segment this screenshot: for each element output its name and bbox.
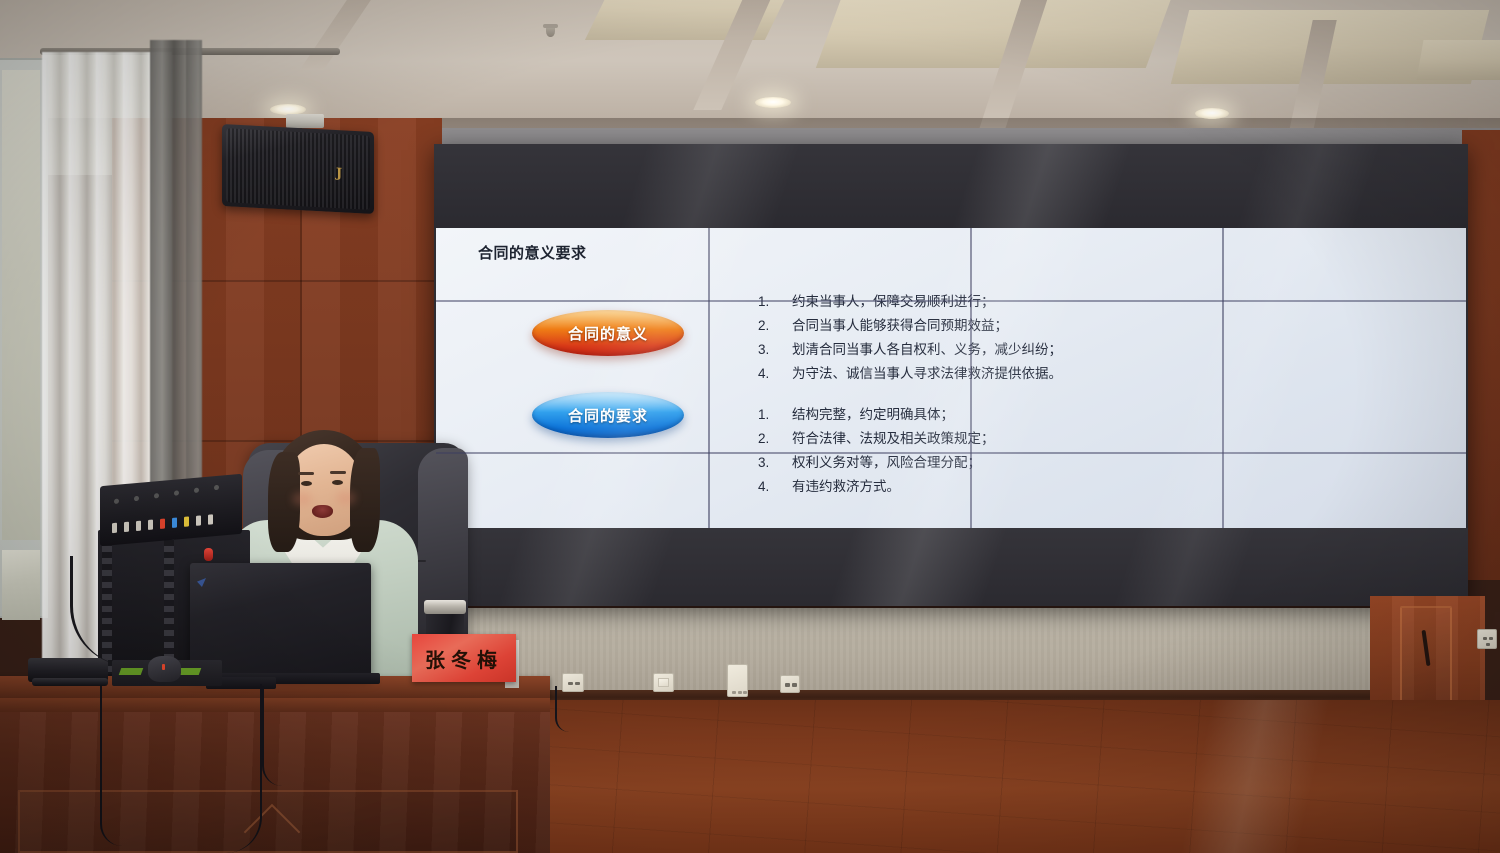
list-item: 2. 符合法律、法规及相关政策规定； — [758, 427, 995, 451]
switch-rocker[interactable] — [658, 678, 669, 687]
panel-led — [732, 691, 736, 694]
list-item-text: 合同当事人能够获得合同预期效益； — [792, 314, 1008, 338]
speaker-logo: J — [336, 166, 342, 181]
mixer-knob[interactable] — [194, 488, 199, 493]
videowall-bezel-v1 — [708, 228, 710, 528]
videowall-bezel-h1 — [436, 300, 1466, 302]
mixer-knob[interactable] — [114, 499, 119, 504]
thermos-lid — [424, 600, 466, 614]
video-wall: 合同的意义要求 合同的意义 合同的要求 1. 约束当事人，保障交易顺利进行； 2… — [434, 144, 1468, 606]
list-item-text: 为守法、诚信当事人寻求法律救济提供依据。 — [792, 362, 1062, 386]
list-item-number: 3. — [758, 451, 792, 475]
list-item: 1. 约束当事人，保障交易顺利进行； — [758, 290, 1062, 314]
sprinkler-head — [546, 24, 555, 37]
list-item: 4. 为守法、诚信当事人寻求法律救济提供依据。 — [758, 362, 1062, 386]
wall-speaker: J — [222, 124, 374, 214]
speaker-grille — [226, 128, 370, 210]
video-wall-bottom-band — [434, 528, 1468, 606]
mixer-fader[interactable] — [172, 517, 177, 527]
mixer-fader[interactable] — [184, 516, 189, 526]
presenter-cheek-shading — [336, 491, 356, 505]
nameplate: 张冬梅 — [412, 634, 516, 682]
ceiling-cove-far-right — [1416, 40, 1500, 80]
list-item-text: 有违约救济方式。 — [792, 475, 900, 499]
outlet-slot — [1489, 637, 1493, 640]
mixer-fader[interactable] — [208, 514, 213, 524]
list-item-text: 权利义务对等，风险合理分配； — [792, 451, 981, 475]
downlight-2 — [755, 97, 791, 108]
lecture-hall-photo: 合同的意义要求 合同的意义 合同的要求 1. 约束当事人，保障交易顺利进行； 2… — [0, 0, 1500, 853]
beige-wall — [432, 608, 1467, 694]
mixer-fader[interactable] — [196, 515, 201, 525]
mixer-knob[interactable] — [154, 493, 159, 498]
list-item-number: 4. — [758, 362, 792, 386]
wall-data-jack — [780, 675, 800, 693]
presenter-brow-left — [298, 472, 314, 475]
list-item-text: 划清合同当事人各自权利、义务，减少纠纷； — [792, 338, 1062, 362]
videowall-bezel-h2 — [436, 452, 1466, 454]
wall-light-switch[interactable] — [653, 673, 674, 692]
downlight-3 — [1195, 108, 1229, 119]
jack-port — [785, 683, 790, 687]
video-wall-top-band — [434, 144, 1468, 228]
list-item: 3. 划清合同当事人各自权利、义务，减少纠纷； — [758, 338, 1062, 362]
mixer-fader[interactable] — [124, 522, 129, 532]
outlet-slot — [568, 682, 573, 685]
outlet-slot — [1483, 637, 1487, 640]
list-item-text: 结构完整，约定明确具体； — [792, 403, 954, 427]
list-contract-requirement: 1. 结构完整，约定明确具体； 2. 符合法律、法规及相关政策规定； 3. 权利… — [758, 403, 995, 499]
mouse-led — [162, 664, 165, 670]
mixer-fader[interactable] — [160, 519, 165, 529]
presenter-mouth — [312, 505, 333, 518]
pill-contract-meaning: 合同的意义 — [532, 310, 684, 356]
mixer-fader[interactable] — [136, 521, 141, 531]
floor-cable — [555, 686, 569, 732]
power-cable — [100, 686, 122, 846]
mixer-knob[interactable] — [134, 496, 139, 501]
outlet-slot — [1486, 643, 1490, 646]
wall-outlet-right — [1477, 629, 1497, 649]
list-item: 1. 结构完整，约定明确具体； — [758, 403, 995, 427]
slide-title: 合同的意义要求 — [478, 242, 587, 263]
audio-mixer[interactable] — [100, 474, 242, 546]
desk-cable — [262, 686, 282, 786]
list-item-number: 4. — [758, 475, 792, 499]
list-item-number: 1. — [758, 290, 792, 314]
presenter-brow-right — [330, 471, 346, 474]
wall-control-panel[interactable] — [727, 664, 748, 697]
window-glass-lower — [2, 550, 40, 620]
speaker-bracket — [286, 114, 324, 128]
list-item-number: 2. — [758, 314, 792, 338]
list-item-number: 3. — [758, 338, 792, 362]
microphone-base-plate — [32, 678, 108, 686]
videowall-bezel-v3 — [1222, 228, 1224, 528]
list-item: 2. 合同当事人能够获得合同预期效益； — [758, 314, 1062, 338]
mousepad-graphic — [119, 668, 144, 675]
list-item: 3. 权利义务对等，风险合理分配； — [758, 451, 995, 475]
presenter-cheek-shading — [292, 492, 312, 506]
mixer-fader[interactable] — [112, 523, 117, 533]
mixer-fader[interactable] — [148, 520, 153, 530]
list-item-text: 约束当事人，保障交易顺利进行； — [792, 290, 995, 314]
presentation-slide: 合同的意义要求 合同的意义 合同的要求 1. 约束当事人，保障交易顺利进行； 2… — [436, 228, 1466, 528]
panel-led — [738, 691, 742, 694]
microphone-capsule — [204, 548, 213, 561]
mixer-knob[interactable] — [174, 490, 179, 495]
pill-contract-requirement: 合同的要求 — [532, 392, 684, 438]
wood-floor — [430, 700, 1500, 853]
list-contract-meaning: 1. 约束当事人，保障交易顺利进行； 2. 合同当事人能够获得合同预期效益； 3… — [758, 290, 1062, 386]
microphone-gooseneck — [70, 556, 210, 666]
list-item-number: 2. — [758, 427, 792, 451]
panel-led — [743, 691, 747, 694]
laptop-cable — [226, 684, 262, 853]
videowall-bezel-v2 — [970, 228, 972, 528]
jack-port — [792, 683, 797, 687]
presenter-eye-left — [301, 481, 312, 486]
list-item-number: 1. — [758, 403, 792, 427]
outlet-slot — [575, 682, 580, 685]
list-item-text: 符合法律、法规及相关政策规定； — [792, 427, 995, 451]
ceiling-cove-center — [816, 0, 1174, 68]
mixer-knob[interactable] — [214, 485, 219, 490]
presenter-eye-right — [332, 480, 343, 485]
window-glass — [2, 70, 40, 540]
list-item: 4. 有违约救济方式。 — [758, 475, 995, 499]
